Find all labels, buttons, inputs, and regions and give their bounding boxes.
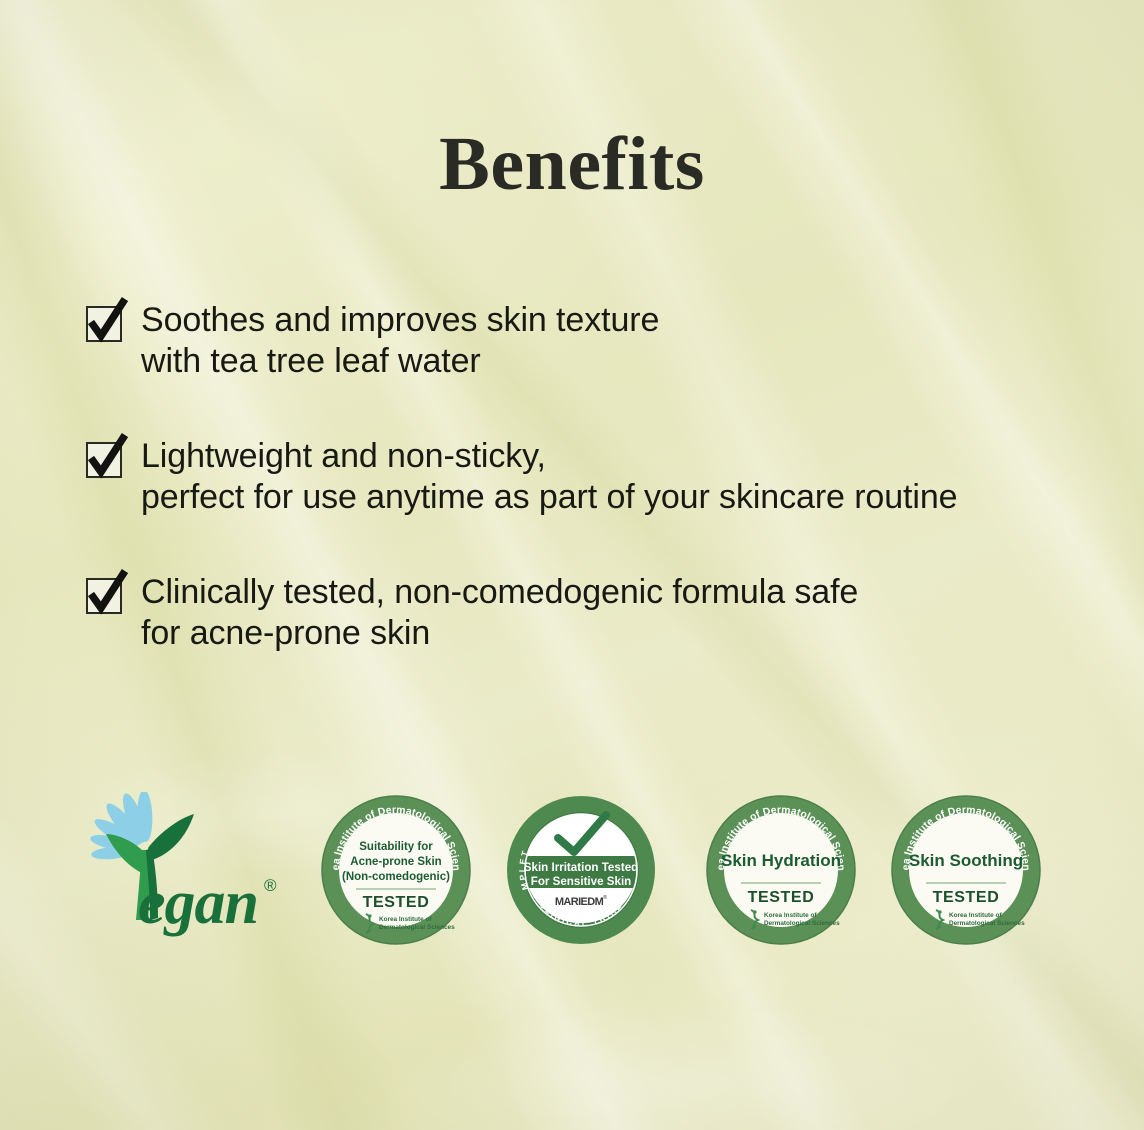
vegan-registered-mark: ® — [264, 876, 277, 896]
badge-status: TESTED — [363, 894, 430, 911]
badge-footer-line-2: Dermatological Sciences — [379, 924, 455, 931]
badge-status: TESTED — [933, 889, 1000, 906]
benefit-item: Soothes and improves skin texture with t… — [86, 300, 1086, 383]
page-title: Benefits — [0, 126, 1144, 202]
checkbox-checked — [86, 578, 122, 614]
badge-skin-hydration: Korea Institute of Dermatological Scienc… — [705, 794, 857, 946]
benefit-text: Clinically tested, non-comedogenic formu… — [141, 572, 858, 655]
badge-line-2: For Sensitive Skin — [531, 875, 632, 888]
vegan-wordmark: egan — [138, 868, 258, 939]
badge-brand: MARIEDM — [555, 896, 604, 908]
checkbox-checked — [86, 306, 122, 342]
benefit-text: Lightweight and non-sticky, perfect for … — [141, 436, 957, 519]
benefit-item: Lightweight and non-sticky, perfect for … — [86, 436, 1086, 519]
checkbox-checked — [86, 442, 122, 478]
badge-skin-irritation-clinical-trial: Skin Irritation Tested For Sensitive Ski… — [505, 794, 657, 946]
badge-footer-line-1: Korea Institute of — [949, 912, 1002, 919]
badge-skin-soothing: Korea Institute of Dermatological Scienc… — [890, 794, 1042, 946]
benefits-list: Soothes and improves skin texture with t… — [86, 300, 1086, 708]
badge-line-1: Skin Hydration — [721, 851, 841, 870]
badge-footer-line-2: Dermatological Sciences — [764, 920, 840, 927]
benefit-item: Clinically tested, non-comedogenic formu… — [86, 572, 1086, 655]
benefit-text: Soothes and improves skin texture with t… — [141, 300, 659, 383]
certification-row: egan ® Korea Institute of Dermatological… — [0, 786, 1144, 976]
badge-footer-line-1: Korea Institute of — [379, 916, 432, 923]
badge-line-1: Suitability for — [359, 841, 433, 853]
badge-footer-line-1: Korea Institute of — [764, 912, 817, 919]
badge-footer-line-2: Dermatological Sciences — [949, 920, 1025, 927]
badge-brand-registered: ® — [603, 894, 607, 901]
badge-line-2: Acne-prone Skin — [350, 856, 441, 868]
badge-line-1: Skin Irritation Tested — [524, 861, 638, 874]
badge-status: TESTED — [748, 889, 815, 906]
badge-line-1: Skin Soothing — [909, 851, 1023, 870]
benefits-product-graphic: Benefits Soothes and improves skin textu… — [0, 0, 1144, 1130]
vegan-logo: egan ® — [86, 792, 286, 952]
badge-acne-prone-suitability: Korea Institute of Dermatological Scienc… — [320, 794, 472, 946]
badge-line-3: (Non-comedogenic) — [342, 871, 450, 883]
